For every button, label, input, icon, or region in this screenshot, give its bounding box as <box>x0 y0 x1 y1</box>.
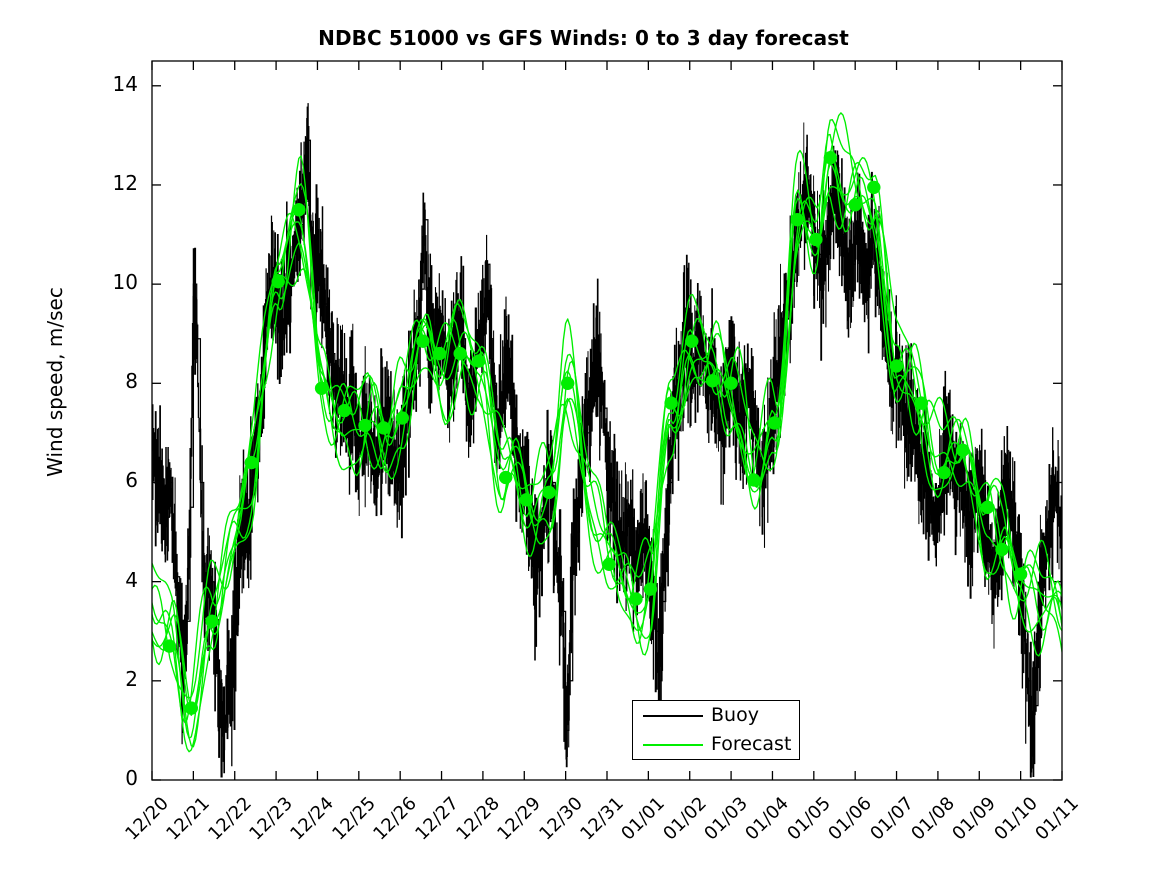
chart-legend: Buoy Forecast <box>632 700 800 760</box>
legend-item-forecast: Forecast <box>633 730 799 760</box>
legend-swatch-buoy <box>643 715 703 717</box>
legend-swatch-forecast <box>643 744 703 746</box>
plot-area <box>0 0 1167 875</box>
y-tick-label: 2 <box>78 667 138 691</box>
y-tick-label: 6 <box>78 468 138 492</box>
y-tick-label: 0 <box>78 766 138 790</box>
y-tick-label: 4 <box>78 568 138 592</box>
y-tick-label: 14 <box>78 72 138 96</box>
y-tick-label: 12 <box>78 171 138 195</box>
chart-figure: NDBC 51000 vs GFS Winds: 0 to 3 day fore… <box>0 0 1167 875</box>
y-tick-label: 8 <box>78 369 138 393</box>
legend-label-forecast: Forecast <box>711 733 791 755</box>
y-tick-label: 10 <box>78 270 138 294</box>
legend-label-buoy: Buoy <box>711 704 759 726</box>
legend-item-buoy: Buoy <box>633 701 799 731</box>
